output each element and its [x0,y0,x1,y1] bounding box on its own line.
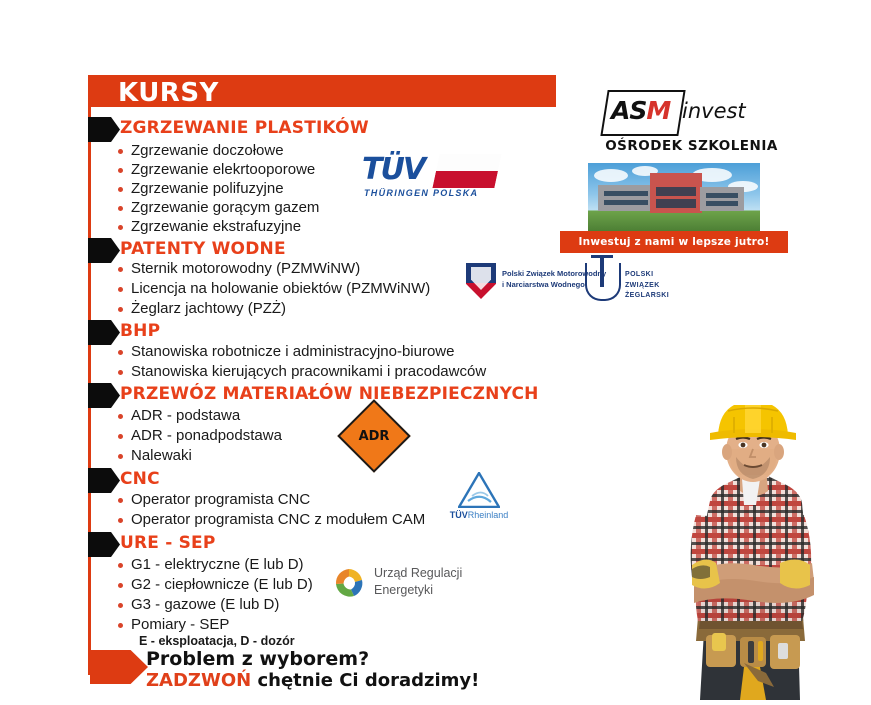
section-title-ure: URE - SEP [120,533,216,553]
anchor-icon [585,263,621,301]
cta-arrow [90,650,148,684]
section-title-adr: PRZEWÓZ MATERIAŁÓW NIEBEZPIECZNYCH [120,384,539,404]
cta-line2: ZADZWOŃ chętnie Ci doradzimy! [146,670,479,691]
list-item: Zgrzewanie gorącym gazem [131,199,319,216]
tuv-rheinland-label: TÜVRheinland [444,510,514,520]
list-item: Żeglarz jachtowy (PZŻ) [131,300,286,317]
asm-subtitle: OŚRODEK SZKOLENIA [604,138,779,154]
worker-illustration [648,405,863,700]
tuv-thuringen-subtitle: THÜRINGEN POLSKA [364,188,478,198]
cta-highlight: ZADZWOŃ [146,670,251,691]
list-item: Zgrzewanie elekrtooporowe [131,161,315,178]
pzz-line2: ZWIĄZEK [625,282,660,289]
list-item: Stanowiska kierujących pracownikami i pr… [131,363,486,380]
list-item: Stanowiska robotnicze i administracyjno-… [131,343,454,360]
list-item: Operator programista CNC z modułem CAM [131,511,425,528]
list-item: G2 - ciepłownicze (E lub D) [131,576,313,593]
list-item: Pomiary - SEP [131,616,229,633]
asm-invest-logo: ASM invest [604,90,754,134]
polish-flag-icon [432,154,501,188]
cta-rest: chętnie Ci doradzimy! [251,670,479,691]
brand-banner-text: Inwestuj z nami w lepsze jutro! [560,231,788,253]
list-item: ADR - ponadpodstawa [131,427,282,444]
tuv-rheinland-logo: TÜVRheinland [444,472,514,524]
pzz-line3: ŻEGLARSKI [625,292,669,299]
pzz-logo: POLSKI ZWIĄZEK ŻEGLARSKI [585,263,675,301]
building-photo [588,163,760,231]
asm-letter-m: M [646,96,670,125]
section-marker-adr [88,383,120,408]
asm-invest-word: invest [682,99,746,123]
tuv-rheinland-bold: TÜV [450,510,468,520]
list-item: G3 - gazowe (E lub D) [131,596,279,613]
list-item: G1 - elektryczne (E lub D) [131,556,304,573]
list-item: Zgrzewanie polifuzyjne [131,180,284,197]
pzmwinw-line2: i Narciarstwa Wodnego [502,280,585,289]
tuv-thuringen-polska-logo: TÜV THÜRINGEN POLSKA [358,150,498,208]
left-accent-rule [88,75,91,675]
list-item: Operator programista CNC [131,491,310,508]
ure-line2: Energetyki [374,583,433,597]
section-marker-ure [88,532,120,557]
poster-canvas: KURSY ZGRZEWANIE PLASTIKÓW Zgrzewanie do… [0,0,871,700]
ure-note: E - eksploatacja, D - dozór [139,634,295,648]
section-title-zgrzewanie: ZGRZEWANIE PLASTIKÓW [120,118,369,138]
list-item: ADR - podstawa [131,407,240,424]
ure-line1: Urząd Regulacji [374,566,462,580]
construction-worker-photo [648,405,863,700]
tuv-rheinland-light: Rheinland [468,510,509,520]
tuv-rheinland-triangle-icon [458,472,500,508]
list-item: Sternik motorowodny (PZMWiNW) [131,260,360,277]
list-item: Licencja na holowanie obiektów (PZMWiNW) [131,280,430,297]
asm-wordmark: ASM [611,96,670,125]
list-item: Nalewaki [131,447,192,464]
asm-letters-as: AS [611,96,646,125]
list-item: Zgrzewanie ekstrafuzyjne [131,218,301,235]
adr-placard-label: ADR [350,412,398,460]
section-marker-patenty [88,238,120,263]
tuv-wordmark: TÜV [362,152,424,187]
pzz-label: POLSKI ZWIĄZEK ŻEGLARSKI [625,270,669,302]
section-title-bhp: BHP [120,321,160,341]
shield-icon [466,263,496,299]
section-title-patenty: PATENTY WODNE [120,239,286,259]
page-title: KURSY [118,78,219,108]
section-marker-cnc [88,468,120,493]
ure-label: Urząd Regulacji Energetyki [374,565,462,599]
ure-ring-icon [332,566,366,600]
pzz-line1: POLSKI [625,271,653,278]
brand-banner: Inwestuj z nami w lepsze jutro! [560,231,788,253]
ure-logo: Urząd Regulacji Energetyki [332,563,477,607]
list-item: Zgrzewanie doczołowe [131,142,284,159]
adr-placard-icon: ADR [337,399,411,473]
section-title-cnc: CNC [120,469,160,489]
section-marker-zgrzewanie [88,117,120,142]
section-marker-bhp [88,320,120,345]
cta-line1: Problem z wyborem? [146,648,369,670]
